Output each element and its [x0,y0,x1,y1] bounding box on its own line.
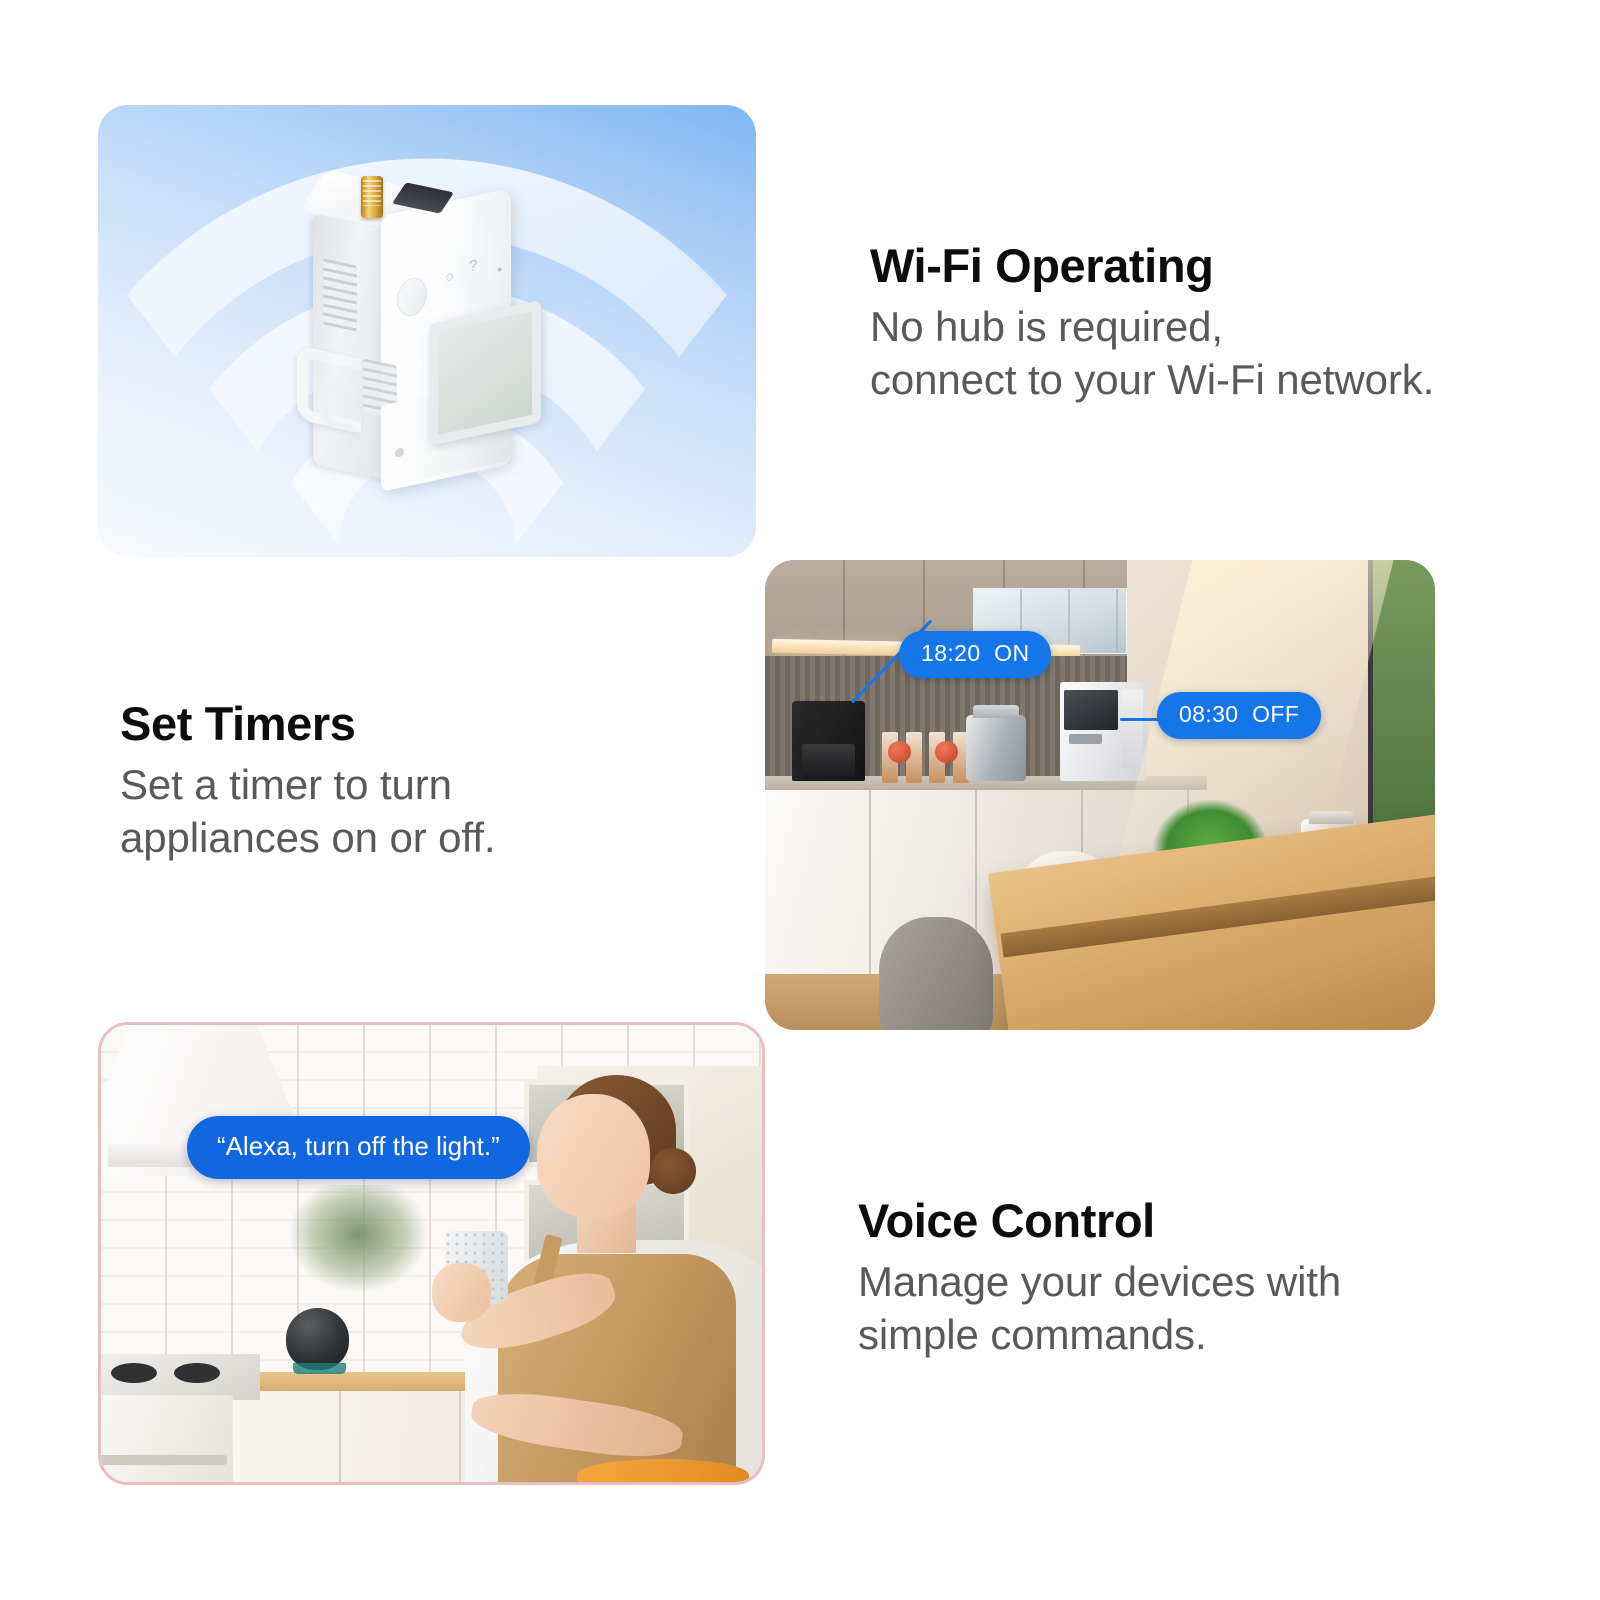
oven [98,1395,233,1482]
smart-switch-device: ○ ? ● [277,166,577,496]
feature-description-voice: Manage your devices with simple commands… [858,1256,1458,1362]
red-canister-1 [888,741,911,763]
feature-text-timers: Set Timers Set a timer to turn appliance… [120,698,680,865]
oven-handle [98,1455,227,1465]
feature-description-wifi-line2: connect to your Wi-Fi network. [870,356,1434,403]
microwave-oven [1060,682,1147,781]
timer-badge-off[interactable]: 08:30 OFF [1157,692,1321,739]
timer-badge-on-state: ON [994,640,1029,666]
microwave-display [1069,734,1102,745]
feature-title-timers: Set Timers [120,698,680,750]
feature-title-wifi: Wi-Fi Operating [870,240,1560,292]
kitchen-photo: 18:20 ON 08:30 OFF [765,560,1435,1030]
feature-description-voice-line1: Manage your devices with [858,1258,1341,1305]
voice-control-image-card: “Alexa, turn off the light.” [98,1022,765,1485]
infographic-stage: ○ ? ● Wi-Fi Operating No hub is required… [0,0,1600,1600]
smart-speaker-base-ring [293,1363,346,1374]
wifi-product-image-card: ○ ? ● [98,105,756,557]
timer-badge-on[interactable]: 18:20 ON [899,631,1051,678]
device-lcd-screen [429,300,541,446]
fruit-bowl [577,1459,749,1485]
person-hand [432,1263,491,1322]
dining-chair-grey [879,917,993,1030]
feature-text-wifi: Wi-Fi Operating No hub is required, conn… [870,240,1560,407]
antenna-connector-icon [361,176,383,218]
feature-text-voice: Voice Control Manage your devices with s… [858,1195,1458,1362]
coffee-machine [792,701,866,781]
feature-description-wifi: No hub is required, connect to your Wi-F… [870,301,1560,407]
timer-scene-image-card: 18:20 ON 08:30 OFF [765,560,1435,1030]
wifi-led-icon: ? [469,258,477,275]
electric-kettle [966,715,1026,781]
timer-badge-off-state: OFF [1252,701,1299,727]
device-side-panel [313,214,387,480]
feature-title-voice: Voice Control [858,1195,1458,1247]
feature-description-timers-line1: Set a timer to turn [120,761,452,808]
feature-description-voice-line2: simple commands. [858,1311,1207,1358]
power-led-icon: ○ [445,269,454,286]
timer-badge-on-time: 18:20 [921,640,981,666]
eucalyptus-wreath [286,1185,431,1295]
person-face [537,1094,649,1217]
microwave-control-panel [1121,690,1144,769]
voice-command-speech-bubble[interactable]: “Alexa, turn off the light.” [187,1116,530,1179]
device-vent-slots [323,258,357,331]
timer-badge-off-time: 08:30 [1179,701,1239,727]
din-rail-clip [297,345,361,433]
status-led-icon: ● [497,264,502,274]
feature-description-timers: Set a timer to turn appliances on or off… [120,759,680,865]
feature-description-wifi-line1: No hub is required, [870,303,1223,350]
smart-speaker-echo-dot [286,1308,349,1370]
person-hair-bun [650,1148,696,1194]
feature-description-timers-line2: appliances on or off. [120,814,495,861]
microwave-door [1064,690,1118,729]
red-canister-2 [935,741,958,763]
